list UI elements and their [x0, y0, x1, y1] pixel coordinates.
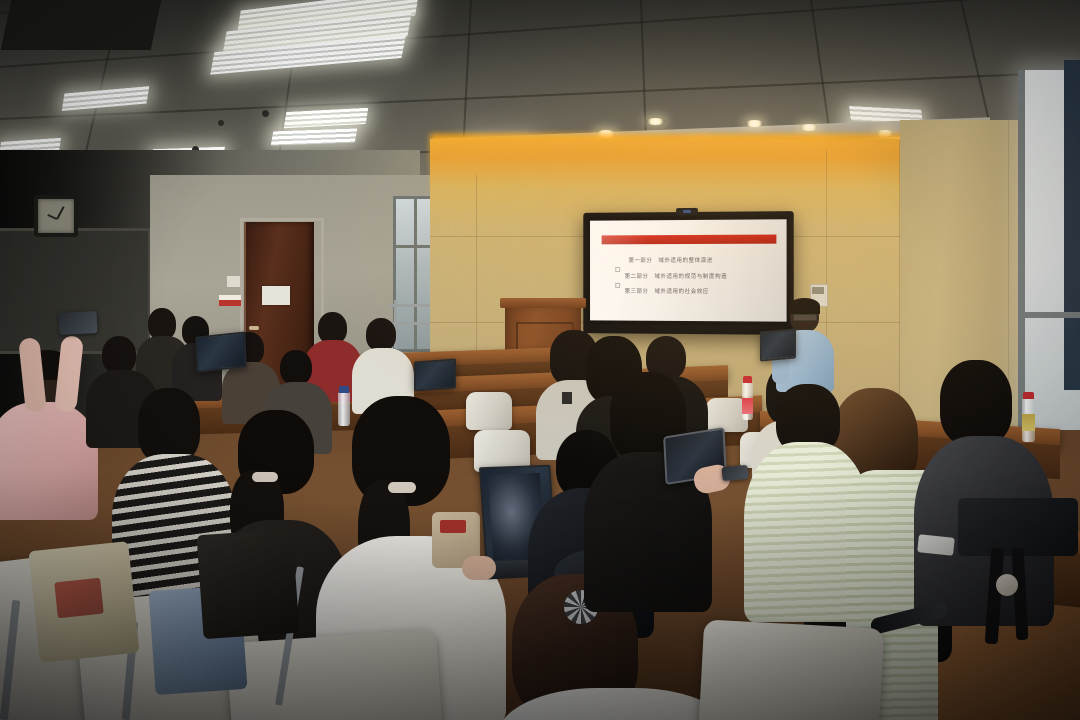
door-notice-sign — [262, 286, 290, 305]
shirt-print — [562, 392, 572, 404]
wall-clock — [34, 195, 78, 237]
smartphone[interactable] — [721, 465, 748, 481]
lecture-hall-photo: 第一部分 域外适用的整体演进 第二部分 域外适用的规范与制度构造 第三部分 域外… — [0, 0, 1080, 720]
smartphone[interactable] — [58, 311, 97, 335]
whiteboard — [0, 228, 151, 354]
ceiling-downlight — [745, 120, 764, 127]
presentation-slide: 第一部分 域外适用的整体演进 第二部分 域外适用的规范与制度构造 第三部分 域外… — [590, 219, 787, 321]
bottle-cap — [1023, 392, 1034, 399]
bag-charm — [996, 574, 1018, 596]
hair — [940, 360, 1012, 446]
slide-bullet-marker — [615, 268, 620, 273]
hair-tie — [252, 472, 278, 482]
head — [102, 336, 136, 374]
lectern-top — [500, 298, 586, 308]
red-wall-sign — [219, 295, 241, 306]
presentation-display[interactable]: 第一部分 域外适用的整体演进 第二部分 域外适用的规范与制度构造 第三部分 域外… — [583, 211, 793, 335]
laptop[interactable] — [414, 359, 456, 392]
chair[interactable] — [696, 619, 884, 720]
window-frame-dark — [1064, 60, 1080, 390]
ceiling-downlight — [646, 118, 665, 125]
door-handle[interactable] — [249, 326, 259, 330]
chair[interactable] — [466, 392, 512, 430]
wall-speaker-grille — [812, 287, 824, 294]
bottle-cap — [339, 386, 349, 393]
tote-bag-logo — [440, 520, 466, 533]
chair[interactable] — [226, 629, 448, 720]
slide-text-line: 第三部分 域外适用的社会效应 — [625, 287, 709, 295]
slide-text-line: 第一部分 域外适用的整体演进 — [629, 256, 713, 264]
slide-text-line: 第二部分 域外适用的规范与制度构造 — [625, 271, 728, 279]
bottle-label — [742, 398, 753, 414]
hand-on-laptop — [462, 556, 496, 580]
torso — [0, 402, 98, 520]
tote-bag-print — [54, 578, 104, 619]
presenter-hair — [789, 298, 820, 314]
window-mullion — [1022, 312, 1080, 318]
laptop[interactable] — [195, 331, 246, 372]
head — [366, 318, 396, 351]
small-wall-sign — [227, 276, 240, 287]
eyeglasses-icon — [793, 314, 817, 321]
slide-accent-bar — [602, 235, 777, 245]
slide-bullet-marker — [615, 283, 620, 288]
laptop[interactable] — [760, 328, 796, 361]
hair-tie — [388, 482, 416, 493]
hair — [138, 388, 200, 464]
ceiling-downlight — [800, 124, 818, 131]
bottle-label — [1022, 414, 1035, 431]
head — [280, 350, 312, 385]
conference-camera-icon — [676, 208, 698, 215]
water-bottle[interactable] — [338, 392, 350, 426]
bottle-cap — [743, 376, 752, 383]
smartphone[interactable] — [917, 534, 955, 556]
backpack[interactable] — [196, 529, 299, 639]
